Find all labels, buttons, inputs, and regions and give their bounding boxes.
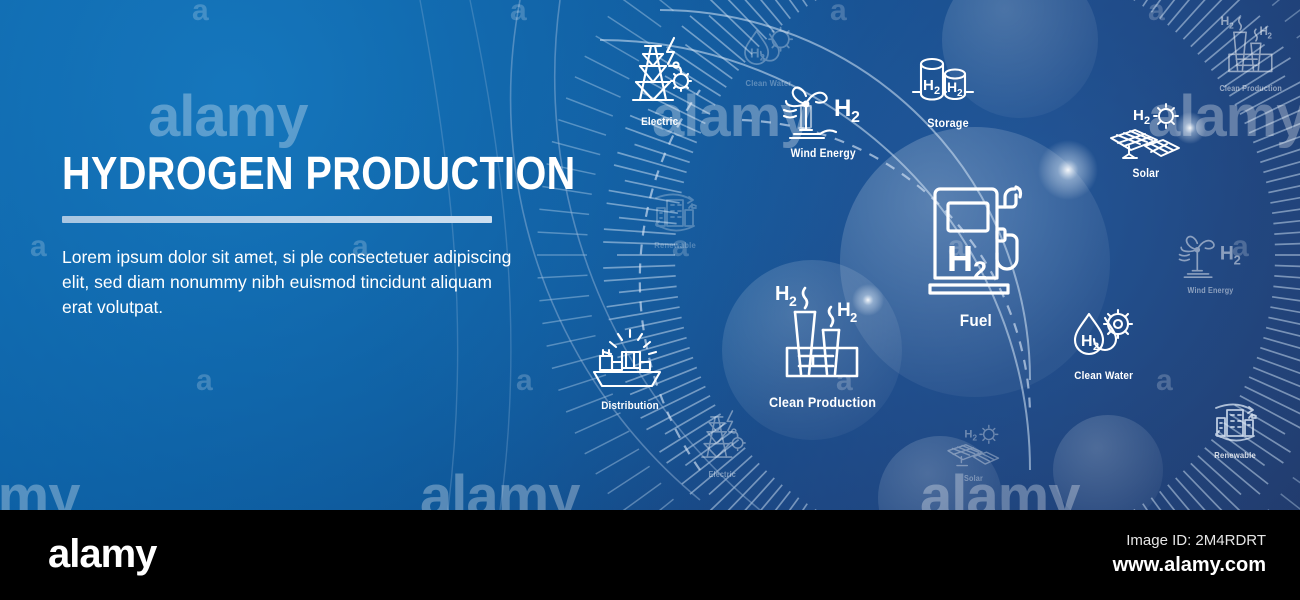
svg-text:H: H — [1081, 333, 1093, 350]
icon-node-fuel[interactable]: H 2 Fuel — [920, 175, 1032, 331]
svg-text:H: H — [1220, 242, 1234, 264]
icon-node-clean-production-2[interactable]: H 2 H 2 Clean Production — [1208, 14, 1294, 93]
svg-text:2: 2 — [1093, 341, 1099, 353]
svg-text:H: H — [947, 79, 957, 95]
glint-1 — [1038, 140, 1098, 200]
icon-label: Clean Production — [769, 394, 876, 410]
icon-label: Clean Water — [746, 78, 792, 88]
icon-label: Electric — [641, 116, 678, 128]
svg-text:2: 2 — [789, 293, 797, 309]
factory-icon: H 2 H 2 — [1218, 14, 1284, 80]
icon-label: Clean Water — [1075, 370, 1134, 382]
alamy-logo: alamy — [48, 534, 156, 574]
svg-text:2: 2 — [973, 257, 987, 285]
hydrogen-production-banner: HYDROGEN PRODUCTION Lorem ipsum dolor si… — [0, 0, 1300, 510]
icon-node-electric-2[interactable]: Electric — [686, 408, 758, 479]
svg-text:H: H — [750, 45, 760, 60]
city-recycle-icon — [645, 188, 705, 236]
icon-label: Fuel — [960, 311, 992, 331]
power-tower-icon — [623, 34, 697, 112]
water-drops-icon: H 2 — [738, 26, 800, 74]
svg-text:2: 2 — [957, 88, 963, 99]
icon-label: Solar — [1133, 168, 1160, 180]
icon-label: Distribution — [601, 400, 659, 412]
solar-panel-icon: H 2 — [1105, 102, 1187, 164]
icon-label: Wind Energy — [790, 148, 855, 160]
svg-text:2: 2 — [850, 310, 857, 325]
city-recycle-icon — [1205, 398, 1265, 446]
title-underline-rule — [62, 216, 492, 223]
gas-tanks-icon: H 2 H 2 — [907, 50, 989, 112]
svg-text:2: 2 — [1268, 31, 1273, 40]
svg-text:H: H — [1260, 25, 1268, 38]
icon-label: Clean Production — [1220, 84, 1282, 93]
svg-text:H: H — [923, 77, 934, 94]
fuel-pump-icon: H 2 — [920, 175, 1032, 301]
icon-node-electric[interactable]: Electric — [612, 34, 708, 128]
power-tower-icon — [694, 408, 750, 466]
svg-text:H: H — [834, 95, 851, 122]
svg-text:H: H — [1220, 14, 1229, 28]
page-title: HYDROGEN PRODUCTION — [62, 150, 466, 196]
image-id-label: Image ID: 2M4RDRT — [1126, 532, 1266, 549]
svg-text:2: 2 — [1229, 21, 1234, 31]
svg-text:H: H — [964, 428, 972, 440]
icon-label: Electric — [708, 470, 735, 479]
icon-node-distribution[interactable]: Distribution — [582, 328, 678, 412]
cargo-ship-icon — [588, 328, 672, 396]
icon-label: Storage — [927, 116, 968, 130]
svg-text:2: 2 — [1144, 115, 1150, 127]
icon-node-clean-water-2[interactable]: H 2 Clean Water — [730, 26, 808, 88]
banner-body-text: Lorem ipsum dolor sit amet, si ple conse… — [62, 245, 512, 320]
water-drops-icon: H 2 — [1067, 308, 1141, 366]
windmill-icon: H 2 — [780, 82, 866, 144]
svg-text:2: 2 — [1234, 252, 1241, 267]
icon-node-solar[interactable]: H 2 Solar — [1098, 102, 1194, 180]
svg-text:2: 2 — [973, 433, 978, 442]
svg-text:H: H — [775, 283, 789, 305]
icon-node-clean-production[interactable]: H 2 H 2 Clean Production — [758, 282, 888, 410]
alamy-footer-bar: alamy Image ID: 2M4RDRT www.alamy.com — [0, 510, 1300, 600]
icon-label: Renewable — [654, 240, 696, 250]
icon-node-renewable-2[interactable]: Renewable — [636, 188, 714, 250]
icon-node-renewable[interactable]: Renewable — [1192, 398, 1278, 460]
alamy-site-link[interactable]: www.alamy.com — [1113, 554, 1266, 577]
svg-text:H: H — [947, 238, 973, 279]
icon-node-clean-water[interactable]: H 2 Clean Water — [1056, 308, 1152, 382]
factory-icon: H 2 H 2 — [769, 282, 877, 390]
screenshot-root: HYDROGEN PRODUCTION Lorem ipsum dolor si… — [0, 0, 1300, 600]
solar-panel-icon: H 2 — [943, 424, 1005, 470]
svg-text:2: 2 — [851, 109, 860, 126]
svg-text:H: H — [1133, 107, 1144, 124]
svg-text:2: 2 — [760, 53, 765, 63]
icon-node-storage[interactable]: H 2 H 2 Storage — [900, 50, 996, 130]
icon-label: Solar — [965, 474, 984, 483]
svg-text:H: H — [837, 300, 851, 321]
windmill-icon: H 2 — [1176, 232, 1246, 282]
icon-node-wind-energy[interactable]: H 2 Wind Energy — [768, 82, 878, 160]
icon-label: Renewable — [1214, 450, 1256, 460]
icon-node-wind-energy-2[interactable]: H 2 Wind Energy — [1166, 232, 1256, 295]
bubble-right — [1053, 415, 1163, 510]
banner-text-block: HYDROGEN PRODUCTION Lorem ipsum dolor si… — [62, 150, 532, 320]
svg-text:2: 2 — [934, 85, 940, 97]
icon-node-solar-2[interactable]: H 2 Solar — [938, 424, 1010, 483]
icon-label: Wind Energy — [1188, 286, 1234, 295]
